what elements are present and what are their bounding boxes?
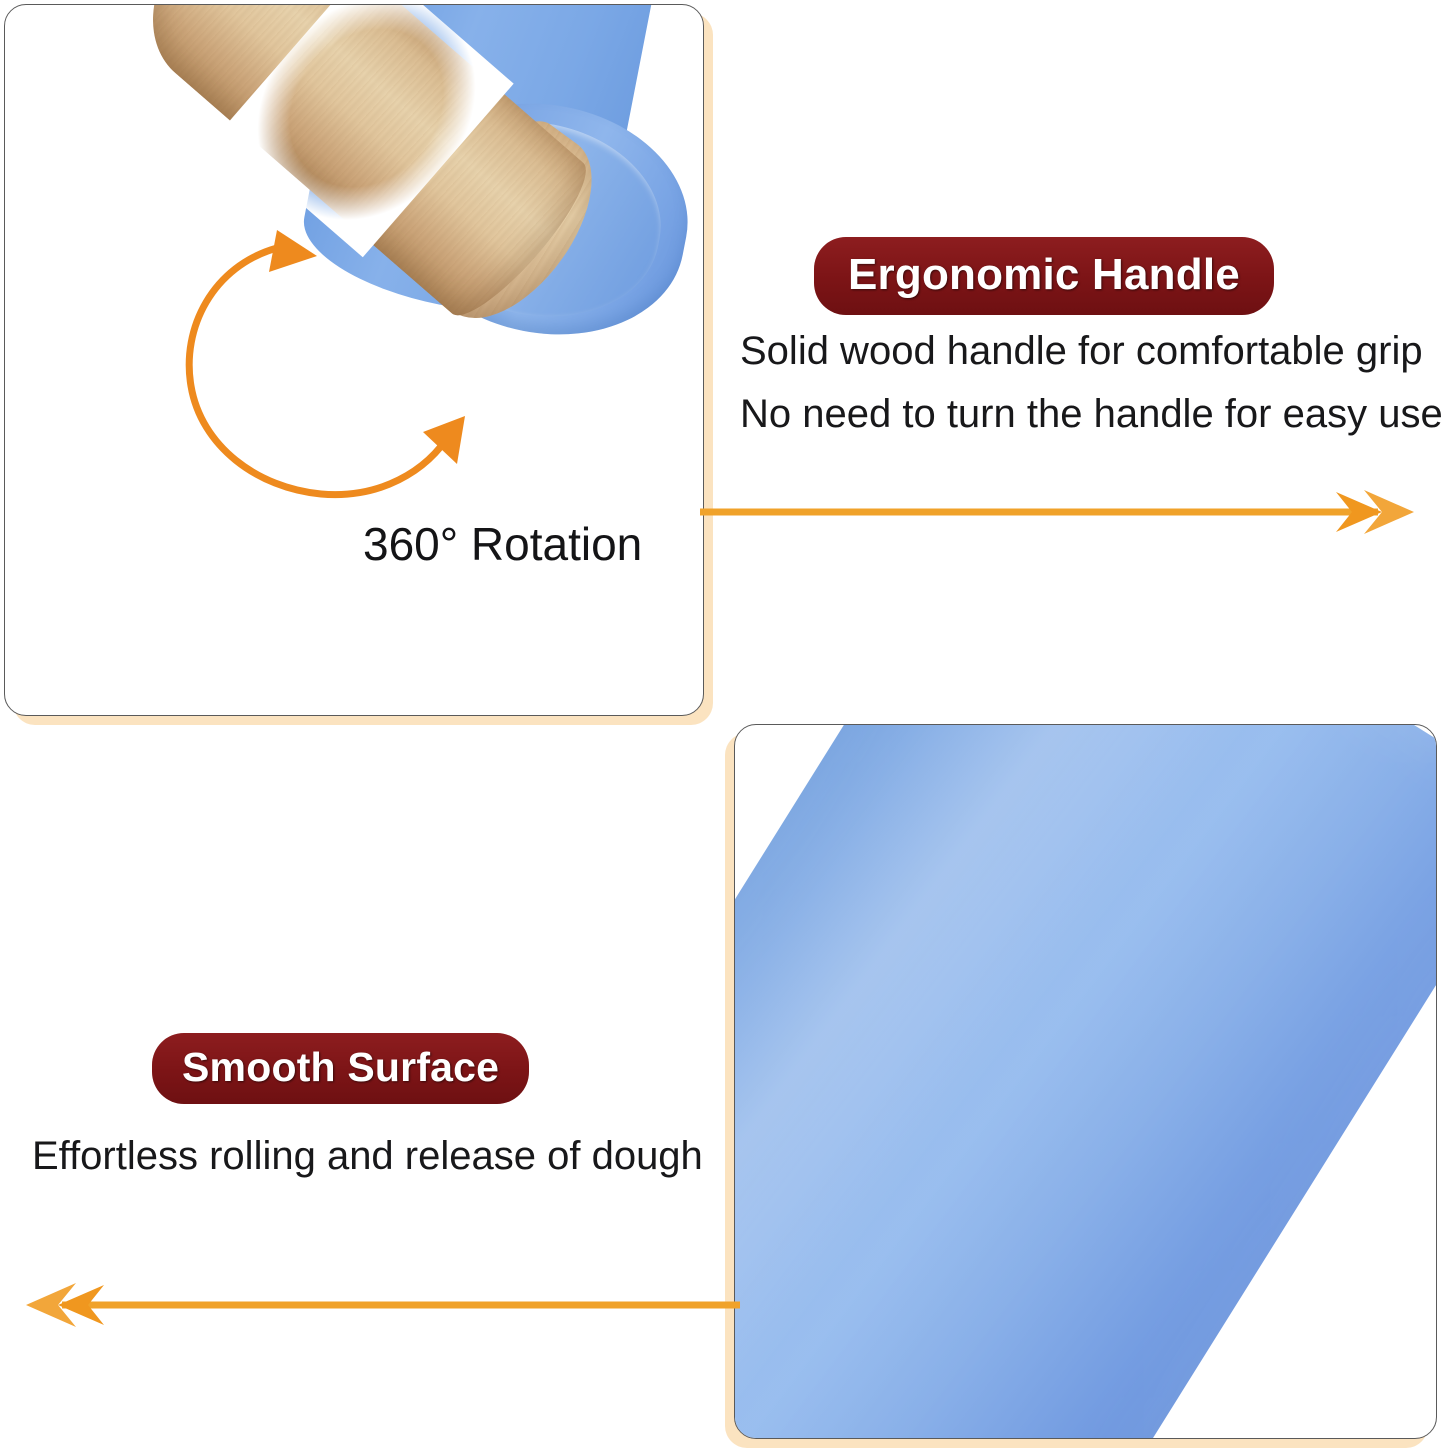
connector-arrow-right-icon: [700, 482, 1418, 542]
silicone-roller-surface: [734, 724, 1437, 1439]
callout-badge-ergonomic-handle: Ergonomic Handle: [814, 237, 1274, 315]
connector-arrow-left-icon: [26, 1275, 740, 1335]
rotation-360-arrow-icon: [165, 220, 485, 520]
smooth-surface-photo-panel: [734, 724, 1437, 1439]
callout-text-ergonomic-line-2: No need to turn the handle for easy use: [740, 392, 1443, 437]
callout-text-smooth-line-1: Effortless rolling and release of dough: [32, 1134, 703, 1179]
infographic-canvas: 360° Rotation Ergonomic Handle Solid woo…: [0, 0, 1445, 1453]
callout-badge-smooth-surface: Smooth Surface: [152, 1033, 529, 1104]
rotation-label: 360° Rotation: [363, 517, 642, 571]
callout-text-ergonomic-line-1: Solid wood handle for comfortable grip: [740, 329, 1423, 374]
ergonomic-handle-photo-panel: 360° Rotation: [4, 4, 704, 716]
